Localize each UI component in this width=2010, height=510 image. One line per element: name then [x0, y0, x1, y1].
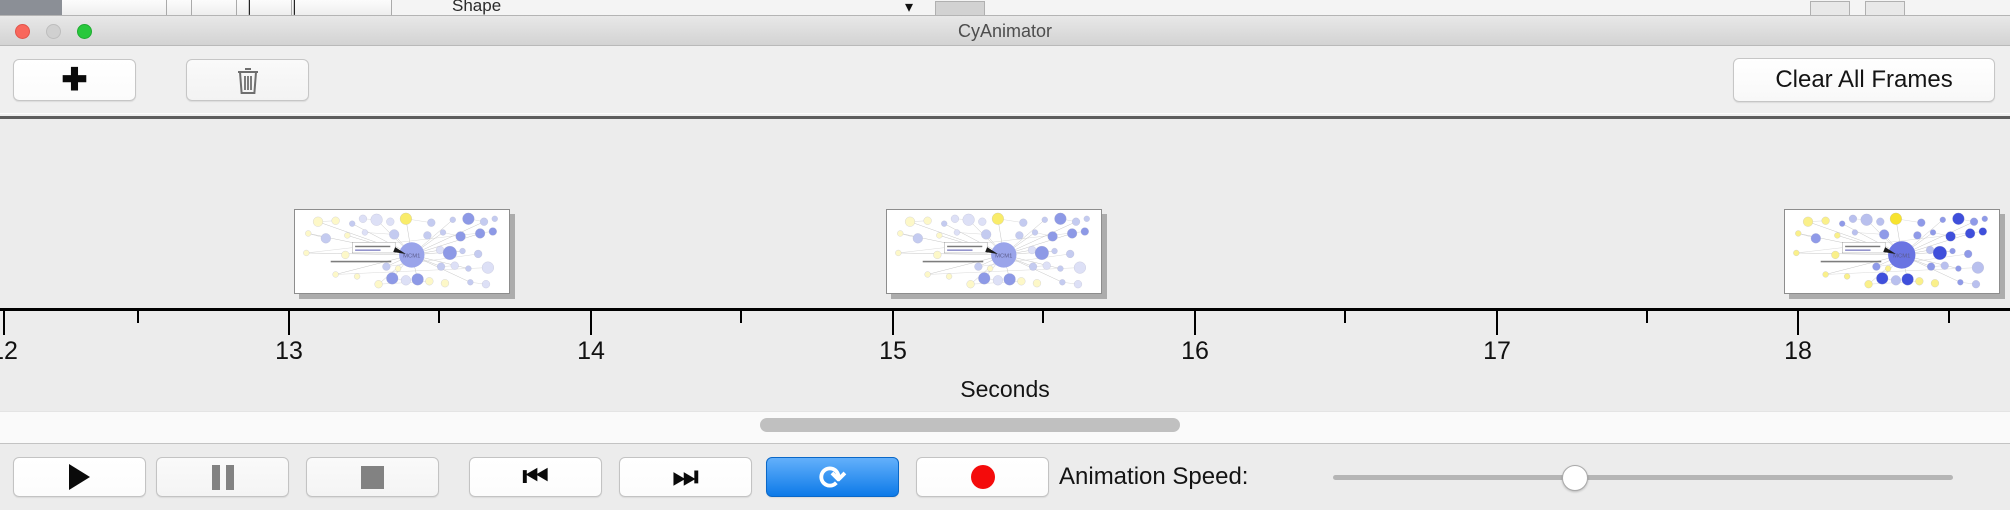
animation-speed-label: Animation Speed: [1059, 457, 1248, 497]
timeline-ruler: Seconds 12131415161718 [0, 308, 2010, 406]
delete-frame-button[interactable] [186, 59, 309, 101]
background-tab [192, 0, 237, 16]
ruler-tick-label: 18 [1784, 337, 1812, 366]
timeline-track[interactable]: MCM1MCM1MCM1 [0, 119, 2010, 308]
ruler-tick-major [590, 311, 592, 335]
toolbar: ✚ Clear All Frames [0, 46, 2010, 119]
background-dark-panel [0, 0, 62, 16]
ruler-tick-major [1194, 311, 1196, 335]
frame-thumbnail-2[interactable]: MCM1 [886, 209, 1102, 294]
ruler-tick-major [892, 311, 894, 335]
horizontal-scrollbar[interactable] [0, 411, 2010, 443]
ruler-tick-minor [1042, 311, 1044, 323]
background-window-strip: │ │ Shape ▾ [0, 0, 2010, 16]
background-widget [1810, 1, 1850, 16]
ruler-tick-label: 16 [1181, 337, 1209, 366]
ruler-tick-minor [438, 311, 440, 323]
svg-text:MCM1: MCM1 [403, 253, 420, 259]
skip-to-start-button[interactable]: ⏮ [469, 457, 602, 497]
skip-back-icon: ⏮ [522, 463, 548, 492]
ruler-tick-major [3, 311, 5, 335]
network-graph: MCM1 [1785, 210, 1999, 293]
background-tab [62, 0, 167, 16]
record-button[interactable] [916, 457, 1049, 497]
animation-speed-slider[interactable] [1333, 457, 1953, 497]
loop-button[interactable]: ⟳ [766, 457, 899, 497]
frame-thumbnail-3[interactable]: MCM1 [1784, 209, 2000, 294]
svg-text:MCM1: MCM1 [1893, 253, 1910, 259]
background-widget [1865, 1, 1905, 16]
ruler-tick-minor [1344, 311, 1346, 323]
ruler-tick-major [288, 311, 290, 335]
network-graph: MCM1 [295, 210, 509, 293]
svg-text:MCM1: MCM1 [995, 253, 1012, 259]
stop-icon [361, 466, 384, 489]
ruler-tick-major [1797, 311, 1799, 335]
background-widget [935, 1, 985, 16]
ruler-axis-title: Seconds [0, 376, 2010, 403]
slider-thumb[interactable] [1562, 465, 1588, 491]
skip-to-end-button[interactable]: ⏭ [619, 457, 752, 497]
ruler-tick-major [1496, 311, 1498, 335]
loop-icon: ⟳ [819, 461, 847, 494]
scrollbar-thumb[interactable] [760, 418, 1180, 432]
ruler-axis-line [0, 308, 2010, 311]
frame-thumbnail-1[interactable]: MCM1 [294, 209, 510, 294]
clear-all-frames-label: Clear All Frames [1775, 66, 1952, 94]
pause-button[interactable] [156, 457, 289, 497]
bg-bar-icon: │ [290, 0, 300, 15]
ruler-tick-minor [740, 311, 742, 323]
plus-icon: ✚ [62, 64, 88, 95]
background-tab [167, 0, 192, 16]
ruler-tick-label: 12 [0, 337, 18, 366]
ruler-tick-label: 13 [275, 337, 303, 366]
slider-track[interactable] [1333, 475, 1953, 480]
add-frame-button[interactable]: ✚ [13, 59, 136, 101]
bg-bar-icon: │ [245, 0, 255, 15]
bg-triangle-icon: ▾ [905, 0, 913, 16]
clear-all-frames-button[interactable]: Clear All Frames [1733, 58, 1995, 102]
pause-icon [212, 465, 234, 490]
ruler-tick-minor [1948, 311, 1950, 323]
stop-button[interactable] [306, 457, 439, 497]
window-titlebar: CyAnimator [0, 16, 2010, 46]
network-graph: MCM1 [887, 210, 1101, 293]
play-icon [69, 464, 90, 490]
window-title: CyAnimator [0, 16, 2010, 46]
ruler-tick-label: 14 [577, 337, 605, 366]
ruler-tick-minor [1646, 311, 1648, 323]
playback-control-bar: Animation Speed: ⏮⏭⟳ [0, 443, 2010, 510]
trash-icon [236, 66, 260, 95]
ruler-tick-label: 15 [879, 337, 907, 366]
record-icon [971, 465, 995, 489]
background-window-label: Shape [452, 0, 501, 16]
ruler-tick-label: 17 [1483, 337, 1511, 366]
play-button[interactable] [13, 457, 146, 497]
skip-forward-icon: ⏭ [672, 463, 698, 492]
ruler-tick-minor [137, 311, 139, 323]
background-tab [292, 0, 392, 16]
